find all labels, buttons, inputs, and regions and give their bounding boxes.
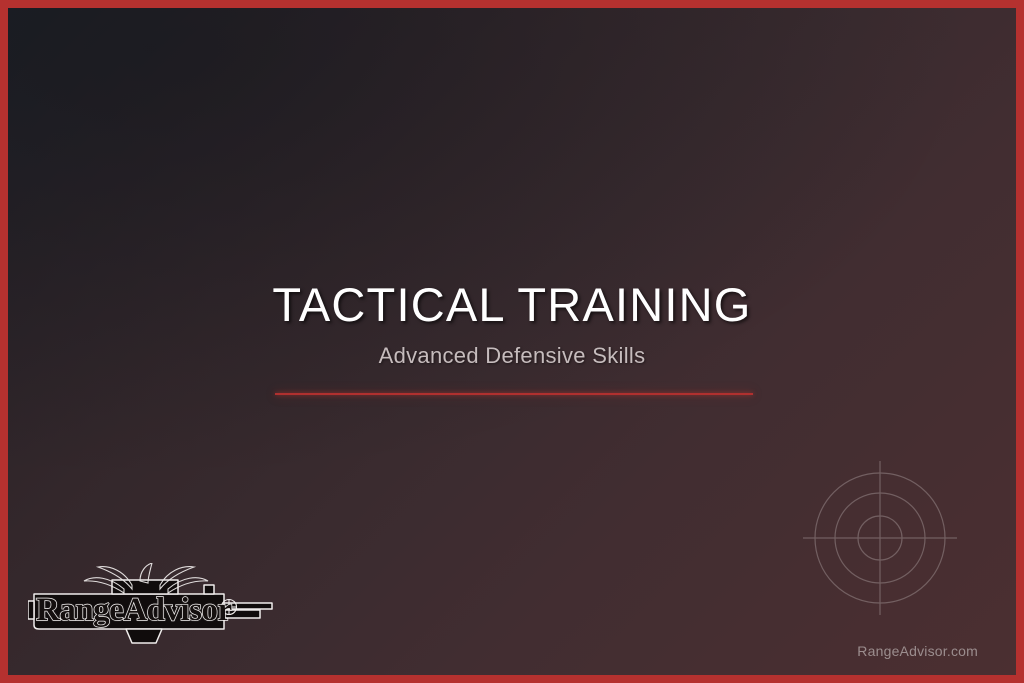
- title-block: TACTICAL TRAINING Advanced Defensive Ski…: [8, 280, 1016, 368]
- crosshair-target-icon: [803, 461, 957, 615]
- slide-canvas: TACTICAL TRAINING Advanced Defensive Ski…: [8, 8, 1016, 675]
- page-title: TACTICAL TRAINING: [8, 280, 1016, 330]
- footer-website-label: RangeAdvisor.com: [857, 643, 978, 659]
- brand-logo-wordmark: RangeAdvisor: [36, 592, 232, 629]
- accent-divider: [275, 393, 753, 395]
- page-subtitle: Advanced Defensive Skills: [8, 344, 1016, 368]
- brand-logo: RangeAdvisor: [28, 563, 276, 645]
- presentation-slide: TACTICAL TRAINING Advanced Defensive Ski…: [0, 0, 1024, 683]
